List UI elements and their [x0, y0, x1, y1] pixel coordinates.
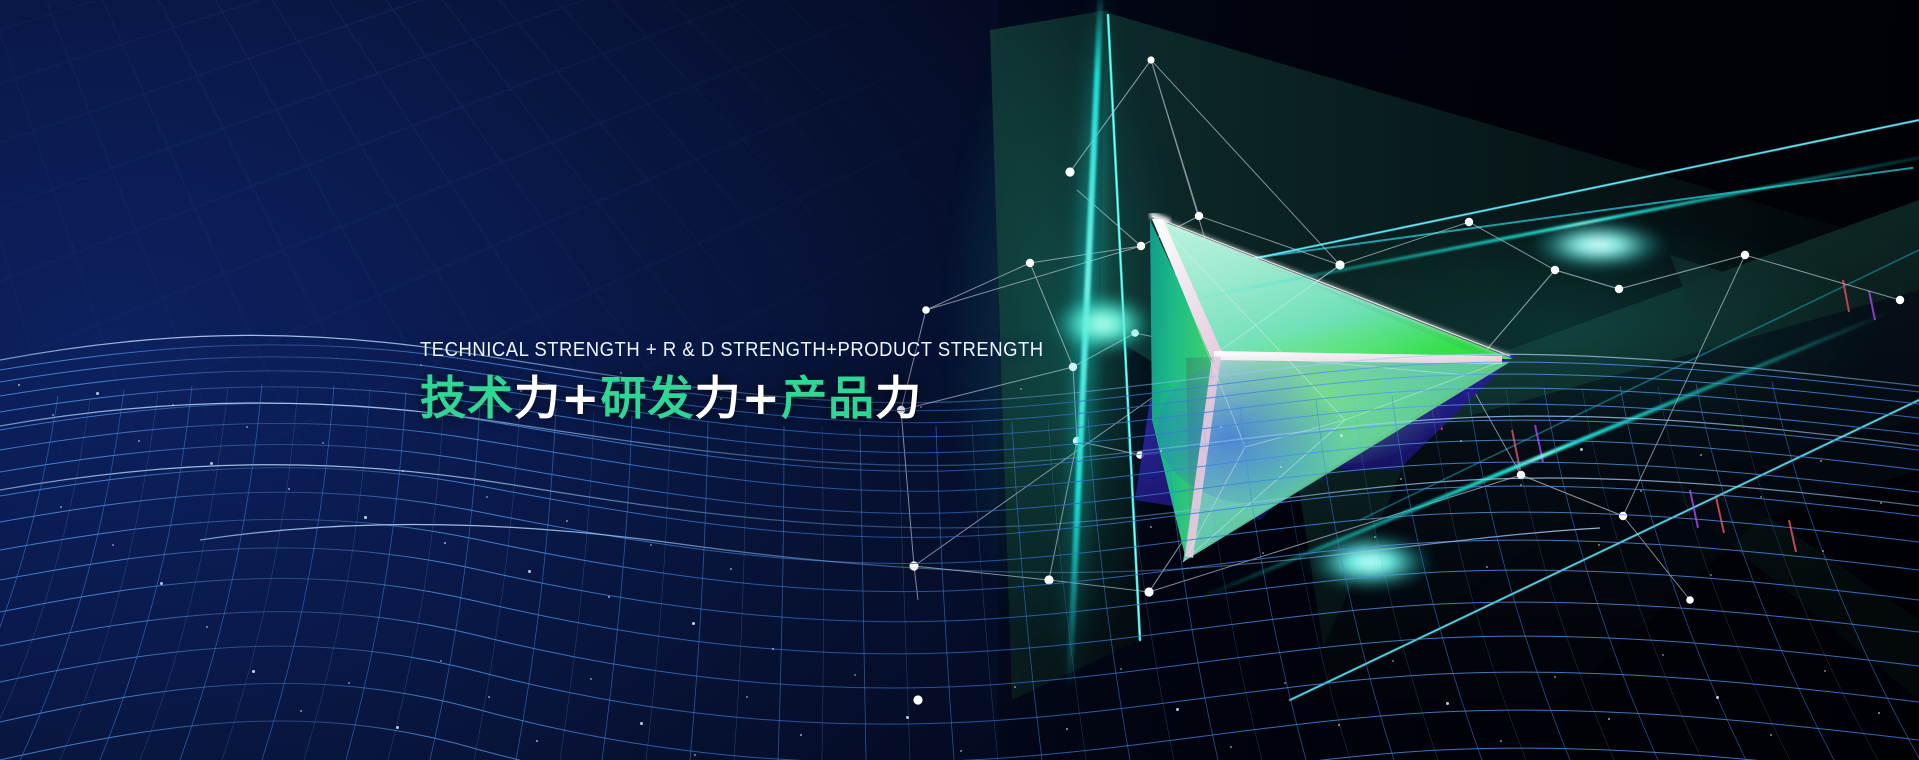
headline-segment-4: 力+	[695, 371, 782, 425]
headline-segment-5: 产品	[781, 371, 875, 425]
headline-segment-3: 研发	[601, 371, 695, 425]
headline-segment-6: 力	[875, 371, 922, 425]
headline-segment-1: 技术	[420, 371, 514, 425]
headline-block: TECHNICAL STRENGTH + R & D STRENGTH+PROD…	[420, 340, 1180, 423]
lens-flare-upper-right	[1534, 222, 1664, 268]
hero-banner: TECHNICAL STRENGTH + R & D STRENGTH+PROD…	[0, 0, 1919, 760]
terrain-verticals	[0, 382, 1919, 760]
headline-segment-2: 力+	[514, 371, 601, 425]
eyebrow-text: TECHNICAL STRENGTH + R & D STRENGTH+PROD…	[420, 340, 1104, 361]
page-title: 技术力+研发力+产品力	[420, 374, 1180, 424]
